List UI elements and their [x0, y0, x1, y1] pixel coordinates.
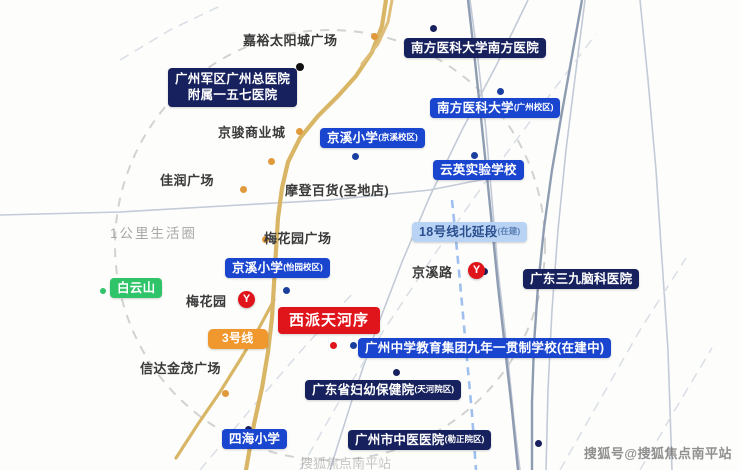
chip-line-1: 广州军区广州总医院: [175, 71, 290, 87]
chip-sihai-primary-school[interactable]: 四海小学: [222, 429, 287, 449]
label-metro-station-jingxilu: 京溪路: [412, 262, 453, 281]
metro-station-jingxilu[interactable]: Y: [468, 262, 485, 279]
chip-label: 广东三九脑科医院: [530, 272, 632, 286]
label-jingjun-business-city: 京骏商业城: [218, 122, 286, 141]
poi-dot-orange: [371, 33, 378, 40]
metro-station-meihuayuan[interactable]: Y: [238, 291, 255, 308]
chip-sub: (广州校区): [514, 103, 554, 113]
poi-dot-blue: [352, 153, 359, 160]
poi-dot-orange: [296, 128, 303, 135]
chip-guangzhou-middle-school-group[interactable]: 广州中学教育集团九年一贯制学校(在建中): [358, 338, 611, 358]
label-metro-station-meihuayuan: 梅花园: [186, 291, 227, 310]
chip-guangzhou-military-general-hospital[interactable]: 广州军区广州总医院 附属一五七医院: [168, 68, 297, 107]
chip-guangdong-999-brain-hospital[interactable]: 广东三九脑科医院: [523, 269, 639, 289]
chip-jingxi-primary-school-yiyuan[interactable]: 京溪小学 (怡园校区): [225, 258, 330, 278]
poi-dot-project: [330, 342, 337, 349]
chip-label: 南方医科大学南方医院: [411, 41, 539, 55]
chip-metro-line-3[interactable]: 3号线: [208, 329, 268, 349]
poi-dot-blue: [497, 88, 504, 95]
poi-dot-blue: [471, 152, 478, 159]
metro-glyph: Y: [473, 265, 480, 276]
poi-dot-navy: [430, 25, 437, 32]
watermark-sohu: 搜狐号@搜狐焦点南平站: [584, 443, 732, 462]
chip-label: 云英实验学校: [440, 163, 517, 177]
chip-baiyun-mountain[interactable]: 白云山: [110, 278, 162, 298]
chip-guangdong-maternal-child-hospital[interactable]: 广东省妇幼保健院 (天河院区): [305, 380, 461, 400]
poi-dot-orange: [222, 390, 229, 397]
chip-southern-medical-university[interactable]: 南方医科大学 (广州校区): [430, 98, 560, 118]
chip-label: 18号线北延段: [419, 225, 498, 239]
label-jiarun-plaza: 佳润广场: [160, 170, 214, 189]
chip-label: 广东省妇幼保健院: [312, 383, 414, 397]
chip-sub: (京溪校区): [378, 133, 418, 143]
chip-label: 南方医科大学: [437, 101, 514, 115]
label-1km-living-circle: 1公里生活圈: [110, 222, 197, 242]
chip-label: 广州市中医医院: [355, 433, 445, 447]
watermark-sohu-faint: 搜狐焦点南平站: [300, 453, 391, 470]
poi-dot-navy: [535, 440, 542, 447]
chip-label: 京溪小学: [232, 261, 283, 275]
chip-label: 3号线: [222, 332, 254, 346]
label-modern-department-store: 摩登百货(圣地店): [285, 180, 389, 199]
label-xinda-jinmao-plaza: 信达金茂广场: [140, 358, 221, 377]
chip-yunying-experimental-school[interactable]: 云英实验学校: [433, 160, 524, 180]
poi-dot-orange: [268, 158, 275, 165]
chip-project-xipai-tianhexu[interactable]: 西派天河序: [278, 307, 380, 334]
region-map: Y Y 嘉裕太阳城广场 京骏商业城 佳润广场 摩登百货(圣地店) 梅花园广场 信…: [0, 0, 740, 470]
label-jiayu-taiyangcheng-plaza: 嘉裕太阳城广场: [243, 30, 338, 49]
chip-sub: (在建): [498, 227, 521, 237]
road-gold-upper: [362, 0, 392, 64]
chip-nanfang-hospital[interactable]: 南方医科大学南方医院: [404, 38, 546, 58]
chip-jingxi-primary-school-jingxi[interactable]: 京溪小学 (京溪校区): [320, 128, 425, 148]
chip-sub: (怡园校区): [283, 263, 323, 273]
poi-dot-orange: [240, 186, 247, 193]
chip-line-2: 附属一五七医院: [175, 87, 290, 103]
chip-sub: (勒正院区): [445, 435, 485, 445]
chip-label: 广州中学教育集团九年一贯制学校(在建中): [365, 341, 604, 355]
chip-label: 京溪小学: [327, 131, 378, 145]
label-meihuayuan-plaza: 梅花园广场: [264, 228, 332, 247]
poi-dot-green: [100, 288, 106, 294]
poi-dot-blue: [283, 287, 290, 294]
metro-glyph: Y: [243, 294, 250, 305]
chip-label: 白云山: [117, 281, 155, 295]
chip-label: 四海小学: [229, 432, 280, 446]
chip-guangzhou-tcm-hospital[interactable]: 广州市中医医院 (勒正院区): [348, 430, 491, 450]
poi-dot-blue: [350, 342, 357, 349]
chip-metro-line-18-north-extension[interactable]: 18号线北延段 (在建): [412, 222, 527, 242]
project-name: 西派天河序: [289, 312, 369, 329]
poi-dot-navy: [393, 369, 400, 376]
poi-dot-dark: [296, 63, 304, 71]
chip-sub: (天河院区): [414, 385, 454, 395]
